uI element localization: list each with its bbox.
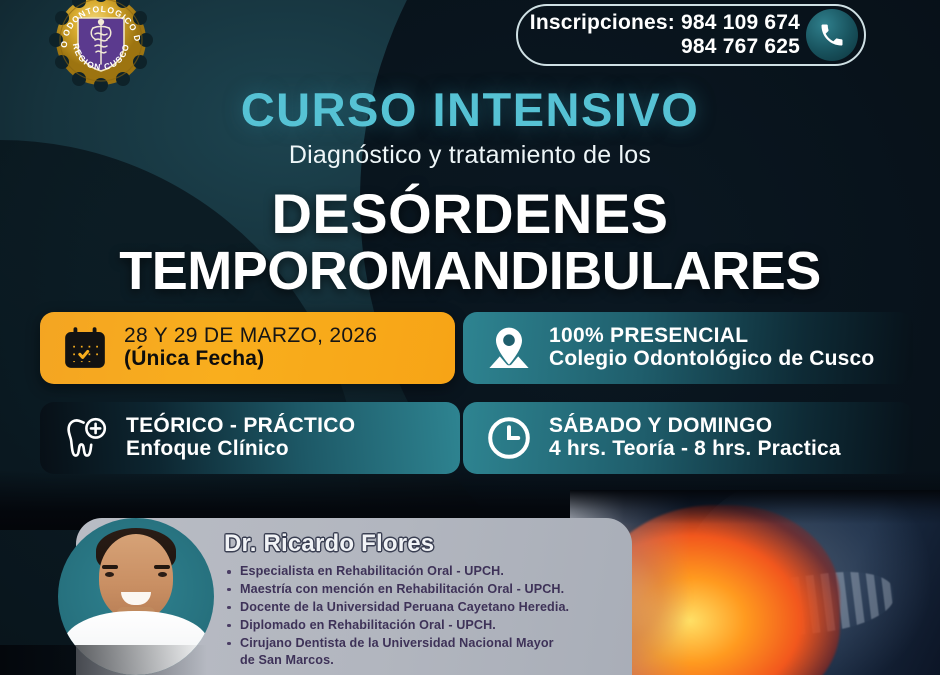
avatar-brow-right bbox=[154, 565, 170, 569]
presenter-name: Dr. Ricardo Flores bbox=[224, 530, 624, 558]
contact-label: Inscripciones: bbox=[530, 11, 675, 34]
page-title-line-2: TEMPOROMANDIBULARES bbox=[0, 243, 940, 300]
list-item: Especialista en Rehabilitación Oral - UP… bbox=[224, 563, 624, 581]
info-card-date[interactable]: 28 Y 29 DE MARZO, 2026 (Única Fecha) bbox=[40, 312, 455, 384]
avatar-eye-right bbox=[158, 572, 167, 577]
bottom-shadow bbox=[0, 645, 940, 675]
info-card-date-line-2: (Única Fecha) bbox=[124, 347, 377, 372]
phone-icon bbox=[806, 9, 858, 61]
contact-numbers: Inscripciones: 984 109 674 984 767 625 bbox=[530, 11, 800, 60]
clock-icon bbox=[485, 414, 533, 462]
contact-pill[interactable]: Inscripciones: 984 109 674 984 767 625 bbox=[516, 4, 866, 66]
tooth-plus-icon bbox=[62, 414, 110, 462]
page-eyebrow: CURSO INTENSIVO bbox=[0, 82, 940, 137]
info-card-date-line-1: 28 Y 29 DE MARZO, 2026 bbox=[124, 324, 377, 348]
info-card-modality-line-1: 100% PRESENCIAL bbox=[549, 324, 874, 348]
list-item: Diplomado en Rehabilitación Oral - UPCH. bbox=[224, 617, 624, 635]
info-card-modality-line-2: Colegio Odontológico de Cusco bbox=[549, 347, 874, 372]
list-item: Docente de la Universidad Peruana Cayeta… bbox=[224, 599, 624, 617]
flyer-root: COLEGIO ODONTOLOGICO DEL PERU REGION CUS… bbox=[0, 0, 940, 675]
page-subtitle: Diagnóstico y tratamiento de los bbox=[0, 141, 940, 170]
header-block: CURSO INTENSIVO Diagnóstico y tratamient… bbox=[0, 82, 940, 301]
calendar-icon bbox=[62, 325, 108, 371]
contact-phone-1: 984 109 674 bbox=[681, 11, 800, 34]
info-card-format-line-2: Enfoque Clínico bbox=[126, 437, 355, 462]
info-card-schedule-line-1: SÁBADO Y DOMINGO bbox=[549, 414, 841, 438]
page-title-line-1: DESÓRDENES bbox=[271, 182, 668, 245]
info-card-schedule-line-2: 4 hrs. Teoría - 8 hrs. Practica bbox=[549, 437, 841, 462]
info-card-schedule[interactable]: SÁBADO Y DOMINGO 4 hrs. Teoría - 8 hrs. … bbox=[463, 402, 913, 474]
info-card-format-line-1: TEÓRICO - PRÁCTICO bbox=[126, 414, 355, 438]
avatar-eye-left bbox=[105, 572, 114, 577]
info-card-format[interactable]: TEÓRICO - PRÁCTICO Enfoque Clínico bbox=[40, 402, 460, 474]
list-item: Maestría con mención en Rehabilitación O… bbox=[224, 581, 624, 599]
info-card-modality[interactable]: 100% PRESENCIAL Colegio Odontológico de … bbox=[463, 312, 913, 384]
artwork-top-fade bbox=[570, 490, 940, 524]
avatar-brow-left bbox=[102, 565, 118, 569]
info-cards: 28 Y 29 DE MARZO, 2026 (Única Fecha) 100… bbox=[0, 312, 940, 482]
contact-phone-2: 984 767 625 bbox=[681, 35, 800, 58]
location-pin-icon bbox=[485, 324, 533, 372]
page-title: DESÓRDENES TEMPOROMANDIBULARES bbox=[0, 184, 940, 301]
